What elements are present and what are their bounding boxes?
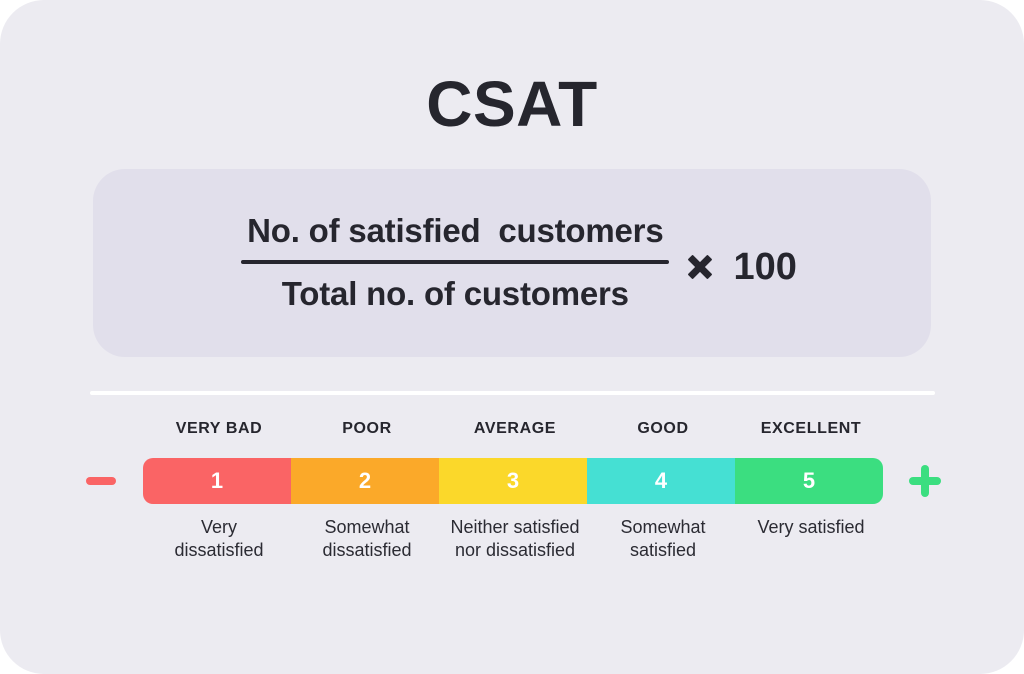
rating-segment-1[interactable]: 1 <box>143 458 291 504</box>
formula-box: No. of satisfied customers Total no. of … <box>93 169 931 357</box>
rating-description-5: Very satisfied <box>737 516 885 562</box>
rating-description-2: Somewhat dissatisfied <box>293 516 441 562</box>
plus-icon[interactable] <box>907 458 943 504</box>
rating-scale-row: 1 2 3 4 5 <box>83 458 941 504</box>
rating-segment-5[interactable]: 5 <box>735 458 883 504</box>
rating-description-3: Neither satisfied nor dissatisfied <box>441 516 589 562</box>
rating-description-1: Very dissatisfied <box>145 516 293 562</box>
rating-label-excellent: EXCELLENT <box>737 420 885 438</box>
csat-card: CSAT No. of satisfied customers Total no… <box>0 0 1024 674</box>
rating-label-good: GOOD <box>589 420 737 438</box>
rating-label-very-bad: VERY BAD <box>145 420 293 438</box>
rating-scale-descriptions: Very dissatisfied Somewhat dissatisfied … <box>145 516 885 562</box>
fraction: No. of satisfied customers Total no. of … <box>241 213 669 313</box>
multiplier-group: 100 <box>687 246 796 289</box>
section-divider <box>90 391 935 395</box>
rating-scale-bar: 1 2 3 4 5 <box>143 458 883 504</box>
fraction-numerator: No. of satisfied customers <box>241 213 669 260</box>
rating-description-4: Somewhat satisfied <box>589 516 737 562</box>
multiplier-value: 100 <box>733 246 796 289</box>
minus-icon[interactable] <box>83 458 119 504</box>
rating-segment-3[interactable]: 3 <box>439 458 587 504</box>
fraction-denominator: Total no. of customers <box>276 264 635 313</box>
multiply-icon <box>687 254 713 280</box>
formula-content: No. of satisfied customers Total no. of … <box>93 169 931 357</box>
rating-segment-4[interactable]: 4 <box>587 458 735 504</box>
rating-label-poor: POOR <box>293 420 441 438</box>
rating-scale: VERY BAD POOR AVERAGE GOOD EXCELLENT 1 2… <box>83 420 941 590</box>
rating-segment-2[interactable]: 2 <box>291 458 439 504</box>
page-title: CSAT <box>0 72 1024 136</box>
rating-scale-top-labels: VERY BAD POOR AVERAGE GOOD EXCELLENT <box>145 420 885 438</box>
rating-label-average: AVERAGE <box>441 420 589 438</box>
